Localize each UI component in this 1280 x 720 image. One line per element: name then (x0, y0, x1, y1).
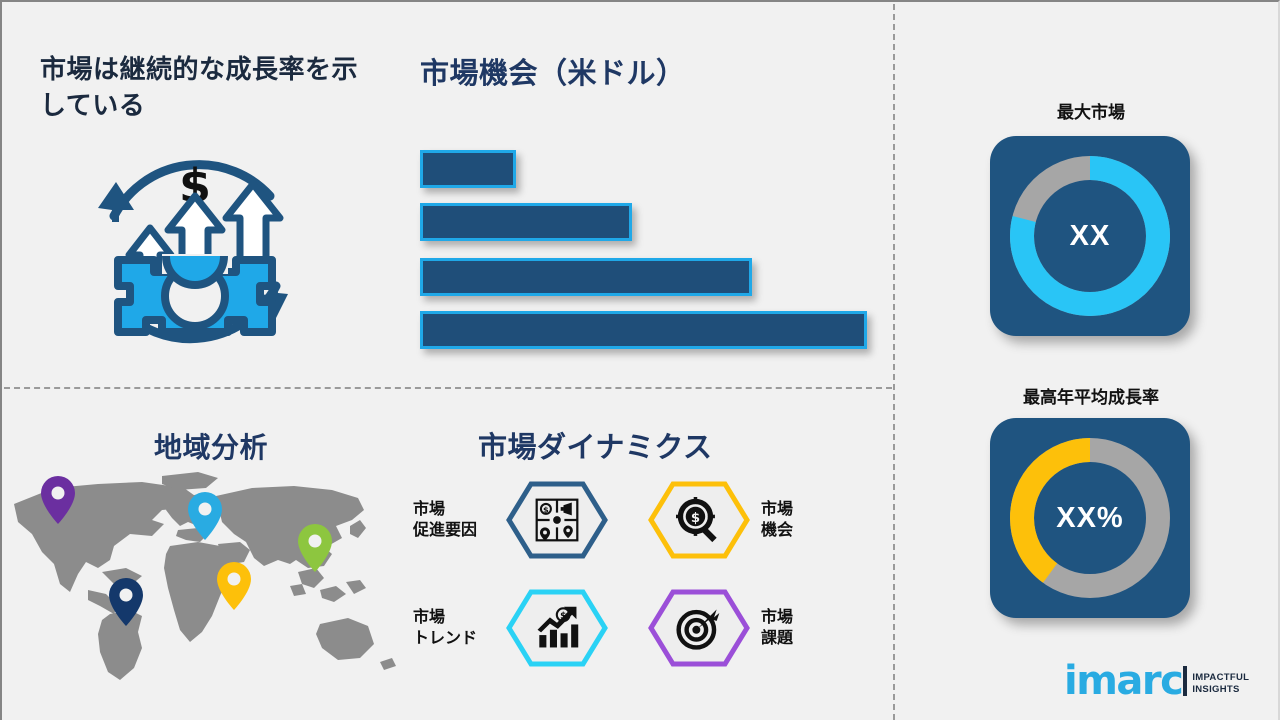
imarc-logo: imarc IMPACTFUL INSIGHTS (1064, 664, 1249, 699)
logo-wordmark: imarc (1064, 664, 1182, 699)
slide-canvas: 市場は継続的な成長率を示している $ (0, 0, 1280, 720)
svg-text:$: $ (560, 611, 566, 621)
target-dart-icon (647, 588, 751, 668)
hexagon-frame-trends: $ (505, 588, 609, 668)
logo-tagline-line1: IMPACTFUL (1192, 672, 1249, 684)
hexagon-frame-challenges (647, 588, 751, 668)
largest-market-donut-card: XX (990, 136, 1190, 336)
cagr-value: XX% (990, 418, 1190, 618)
bar-segment (420, 311, 867, 349)
map-pin-middle-east-africa (217, 562, 251, 610)
dynamics-item-opportunity[interactable]: $ 市場 機会 (647, 480, 853, 560)
hexagon-frame-drivers: $ (505, 480, 609, 560)
puzzle-drivers-icon: $ (505, 480, 609, 560)
bar-row (420, 203, 632, 241)
horizontal-divider (4, 387, 892, 389)
growth-gear-dollar-icon: $ (74, 130, 316, 372)
svg-text:$: $ (691, 511, 700, 526)
map-pin-east-asia (298, 524, 332, 572)
region-section-title: 地域分析 (154, 426, 268, 466)
dynamics-item-label: 市場 機会 (761, 499, 853, 541)
dynamics-item-label: 市場 促進要因 (413, 499, 505, 541)
map-pin-north-america (41, 476, 75, 524)
largest-market-value: XX (990, 136, 1190, 336)
dynamics-item-label: 市場 課題 (761, 607, 853, 649)
logo-tagline: IMPACTFUL INSIGHTS (1192, 672, 1249, 699)
bar-row (420, 311, 867, 349)
map-pin-europe (188, 492, 222, 540)
growth-section-title: 市場は継続的な成長率を示している (40, 52, 380, 124)
magnifier-dollar-icon: $ (647, 480, 751, 560)
opportunity-section-title: 市場機会（米ドル） (420, 50, 860, 92)
hexagon-frame-opportunity: $ (647, 480, 751, 560)
growth-bar-chart-icon: $ (505, 588, 609, 668)
logo-divider (1183, 666, 1187, 696)
dynamics-section-title: 市場ダイナミクス (478, 424, 713, 466)
market-opportunity-bar-chart (420, 144, 880, 359)
dynamics-item-trends[interactable]: 市場 トレンド $ (413, 588, 609, 668)
bar-segment (420, 150, 516, 188)
dynamics-item-challenges[interactable]: 市場 課題 (647, 588, 853, 668)
bar-segment (420, 203, 632, 241)
vertical-divider (893, 4, 895, 720)
dynamics-item-drivers[interactable]: 市場 促進要因 $ (413, 480, 609, 560)
largest-market-caption: 最大市場 (946, 98, 1236, 123)
market-dynamics-group: 市場 促進要因 $ (407, 480, 847, 680)
bar-row (420, 150, 516, 188)
map-pin-south-america (109, 578, 143, 626)
bar-row (420, 258, 752, 296)
svg-text:$: $ (543, 505, 549, 515)
cagr-donut-card: XX% (990, 418, 1190, 618)
bar-segment (420, 258, 752, 296)
dynamics-item-label: 市場 トレンド (413, 607, 505, 649)
world-map (2, 464, 402, 684)
cagr-caption: 最高年平均成長率 (946, 383, 1236, 408)
logo-tagline-line2: INSIGHTS (1192, 684, 1249, 696)
